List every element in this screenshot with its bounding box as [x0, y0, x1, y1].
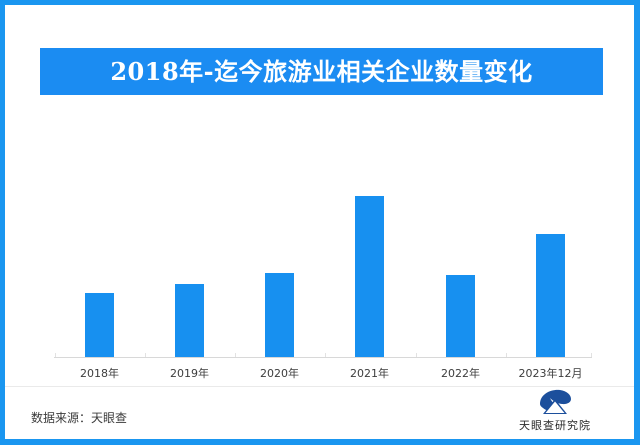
bar-2019年	[175, 284, 204, 357]
bar-2018年	[85, 293, 114, 357]
data-source-label: 数据来源：天眼查	[31, 409, 127, 426]
bar-chart: 2018年2019年2020年2021年2022年2023年12月	[5, 5, 634, 439]
x-axis-tick-4	[325, 353, 326, 357]
x-axis-tick-3	[235, 353, 236, 357]
x-axis-label-2: 2019年	[170, 365, 209, 381]
x-axis-label-1: 2018年	[80, 365, 119, 381]
x-axis-label-3: 2020年	[260, 365, 299, 381]
x-axis-tick-5	[416, 353, 417, 357]
tianyancha-logo-icon	[538, 389, 572, 415]
bar-2021年	[355, 196, 384, 357]
x-axis-label-4: 2021年	[350, 365, 389, 381]
x-axis-tick-1	[55, 353, 56, 357]
frame-border-left	[0, 0, 5, 445]
frame-border-right	[634, 0, 640, 445]
x-axis-line	[54, 357, 592, 358]
x-axis-label-5: 2022年	[441, 365, 480, 381]
x-axis-tick-2	[145, 353, 146, 357]
page-content: 2018年-迄今旅游业相关企业数量变化 2018年2019年2020年2021年…	[5, 5, 634, 439]
brand-logo: 天眼查研究院	[500, 389, 610, 437]
bar-2022年	[446, 275, 475, 357]
brand-logo-label: 天眼查研究院	[519, 417, 591, 433]
bar-2023年12月	[536, 234, 565, 357]
frame-border-bottom	[0, 439, 640, 445]
footer-divider	[5, 386, 634, 387]
x-axis-tick-end	[591, 353, 592, 357]
x-axis-label-6: 2023年12月	[519, 365, 583, 381]
frame-border-top	[0, 0, 640, 5]
infographic-page: 2018年-迄今旅游业相关企业数量变化 2018年2019年2020年2021年…	[0, 0, 640, 445]
bar-2020年	[265, 273, 294, 357]
x-axis-tick-6	[506, 353, 507, 357]
